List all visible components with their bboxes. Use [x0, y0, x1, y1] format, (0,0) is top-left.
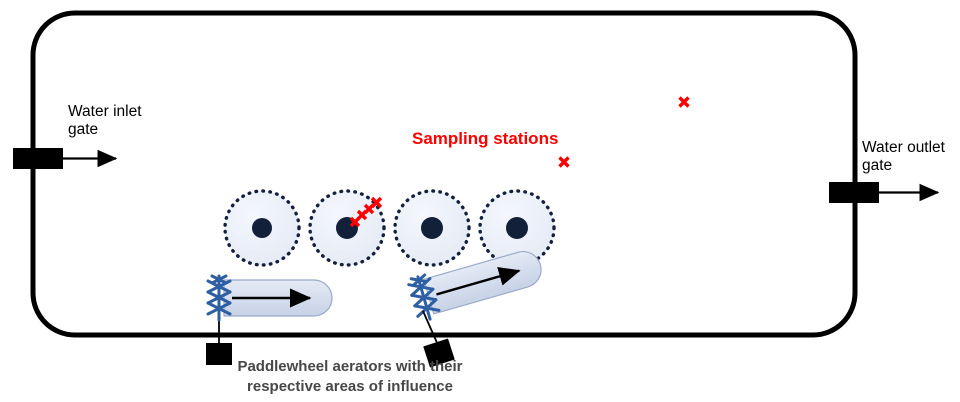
pond-schematic-figure: Water inlet gate Water outlet gate Sampl… — [0, 0, 960, 402]
water-outlet-gate-block — [829, 182, 879, 203]
diagram-canvas — [0, 0, 960, 402]
aeration-zone-3-center — [421, 217, 443, 239]
aeration-zone-4-center — [506, 217, 528, 239]
paddlewheel-aerators-caption: Paddlewheel aerators with their respecti… — [225, 357, 475, 397]
water-outlet-gate-label: Water outlet gate — [862, 139, 945, 176]
aeration-zone-3 — [395, 191, 469, 265]
aeration-zone-1 — [225, 191, 299, 265]
aeration-zone-2 — [310, 191, 384, 265]
water-inlet-gate-block — [13, 148, 63, 169]
water-inlet-gate-label: Water inlet gate — [68, 103, 142, 140]
aeration-zone-1-center — [252, 218, 272, 238]
water-outlet-gate — [829, 182, 938, 203]
sampling-stations-label: Sampling stations — [412, 129, 558, 149]
